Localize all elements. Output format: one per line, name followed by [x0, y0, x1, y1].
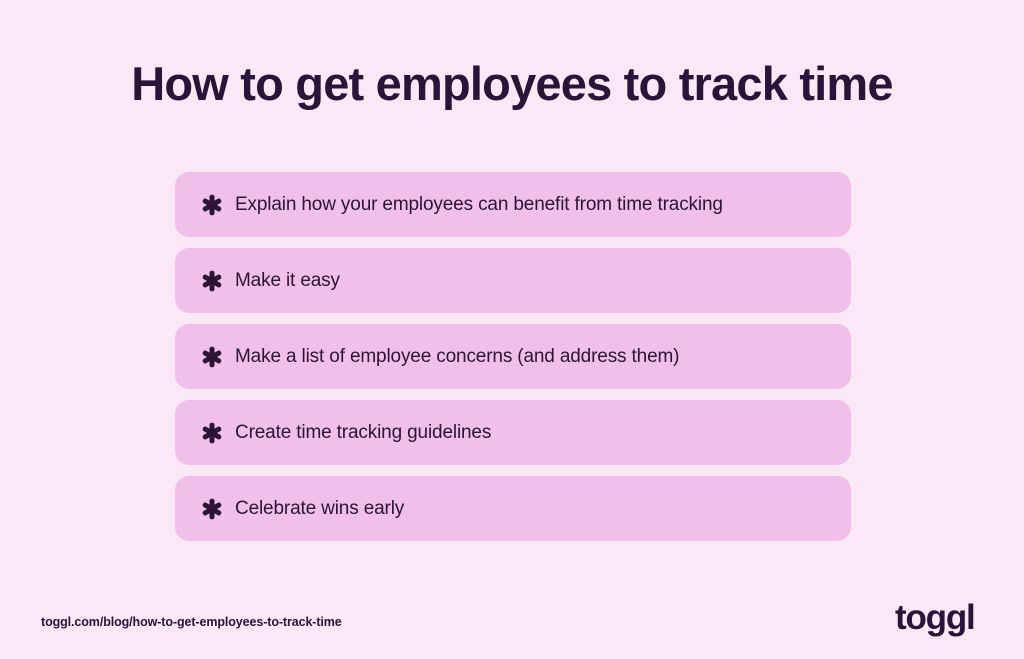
- source-url: toggl.com/blog/how-to-get-employees-to-t…: [41, 615, 342, 629]
- asterisk-flower-icon: [201, 346, 223, 368]
- list-item-label: Explain how your employees can benefit f…: [235, 194, 723, 216]
- page-title: How to get employees to track time: [0, 58, 1024, 111]
- list-item-label: Create time tracking guidelines: [235, 422, 491, 444]
- list-item: Celebrate wins early: [175, 476, 851, 541]
- list-item: Make a list of employee concerns (and ad…: [175, 324, 851, 389]
- toggl-logo: toggl: [895, 596, 987, 640]
- toggl-logo-text: toggl: [895, 598, 975, 637]
- infographic-canvas: How to get employees to track time Expla…: [0, 0, 1024, 659]
- asterisk-flower-icon: [201, 498, 223, 520]
- checklist: Explain how your employees can benefit f…: [175, 172, 851, 541]
- list-item: Make it easy: [175, 248, 851, 313]
- asterisk-flower-icon: [201, 270, 223, 292]
- list-item-label: Celebrate wins early: [235, 498, 404, 520]
- list-item: Create time tracking guidelines: [175, 400, 851, 465]
- list-item: Explain how your employees can benefit f…: [175, 172, 851, 237]
- list-item-label: Make a list of employee concerns (and ad…: [235, 346, 679, 368]
- asterisk-flower-icon: [201, 422, 223, 444]
- asterisk-flower-icon: [201, 194, 223, 216]
- list-item-label: Make it easy: [235, 270, 340, 292]
